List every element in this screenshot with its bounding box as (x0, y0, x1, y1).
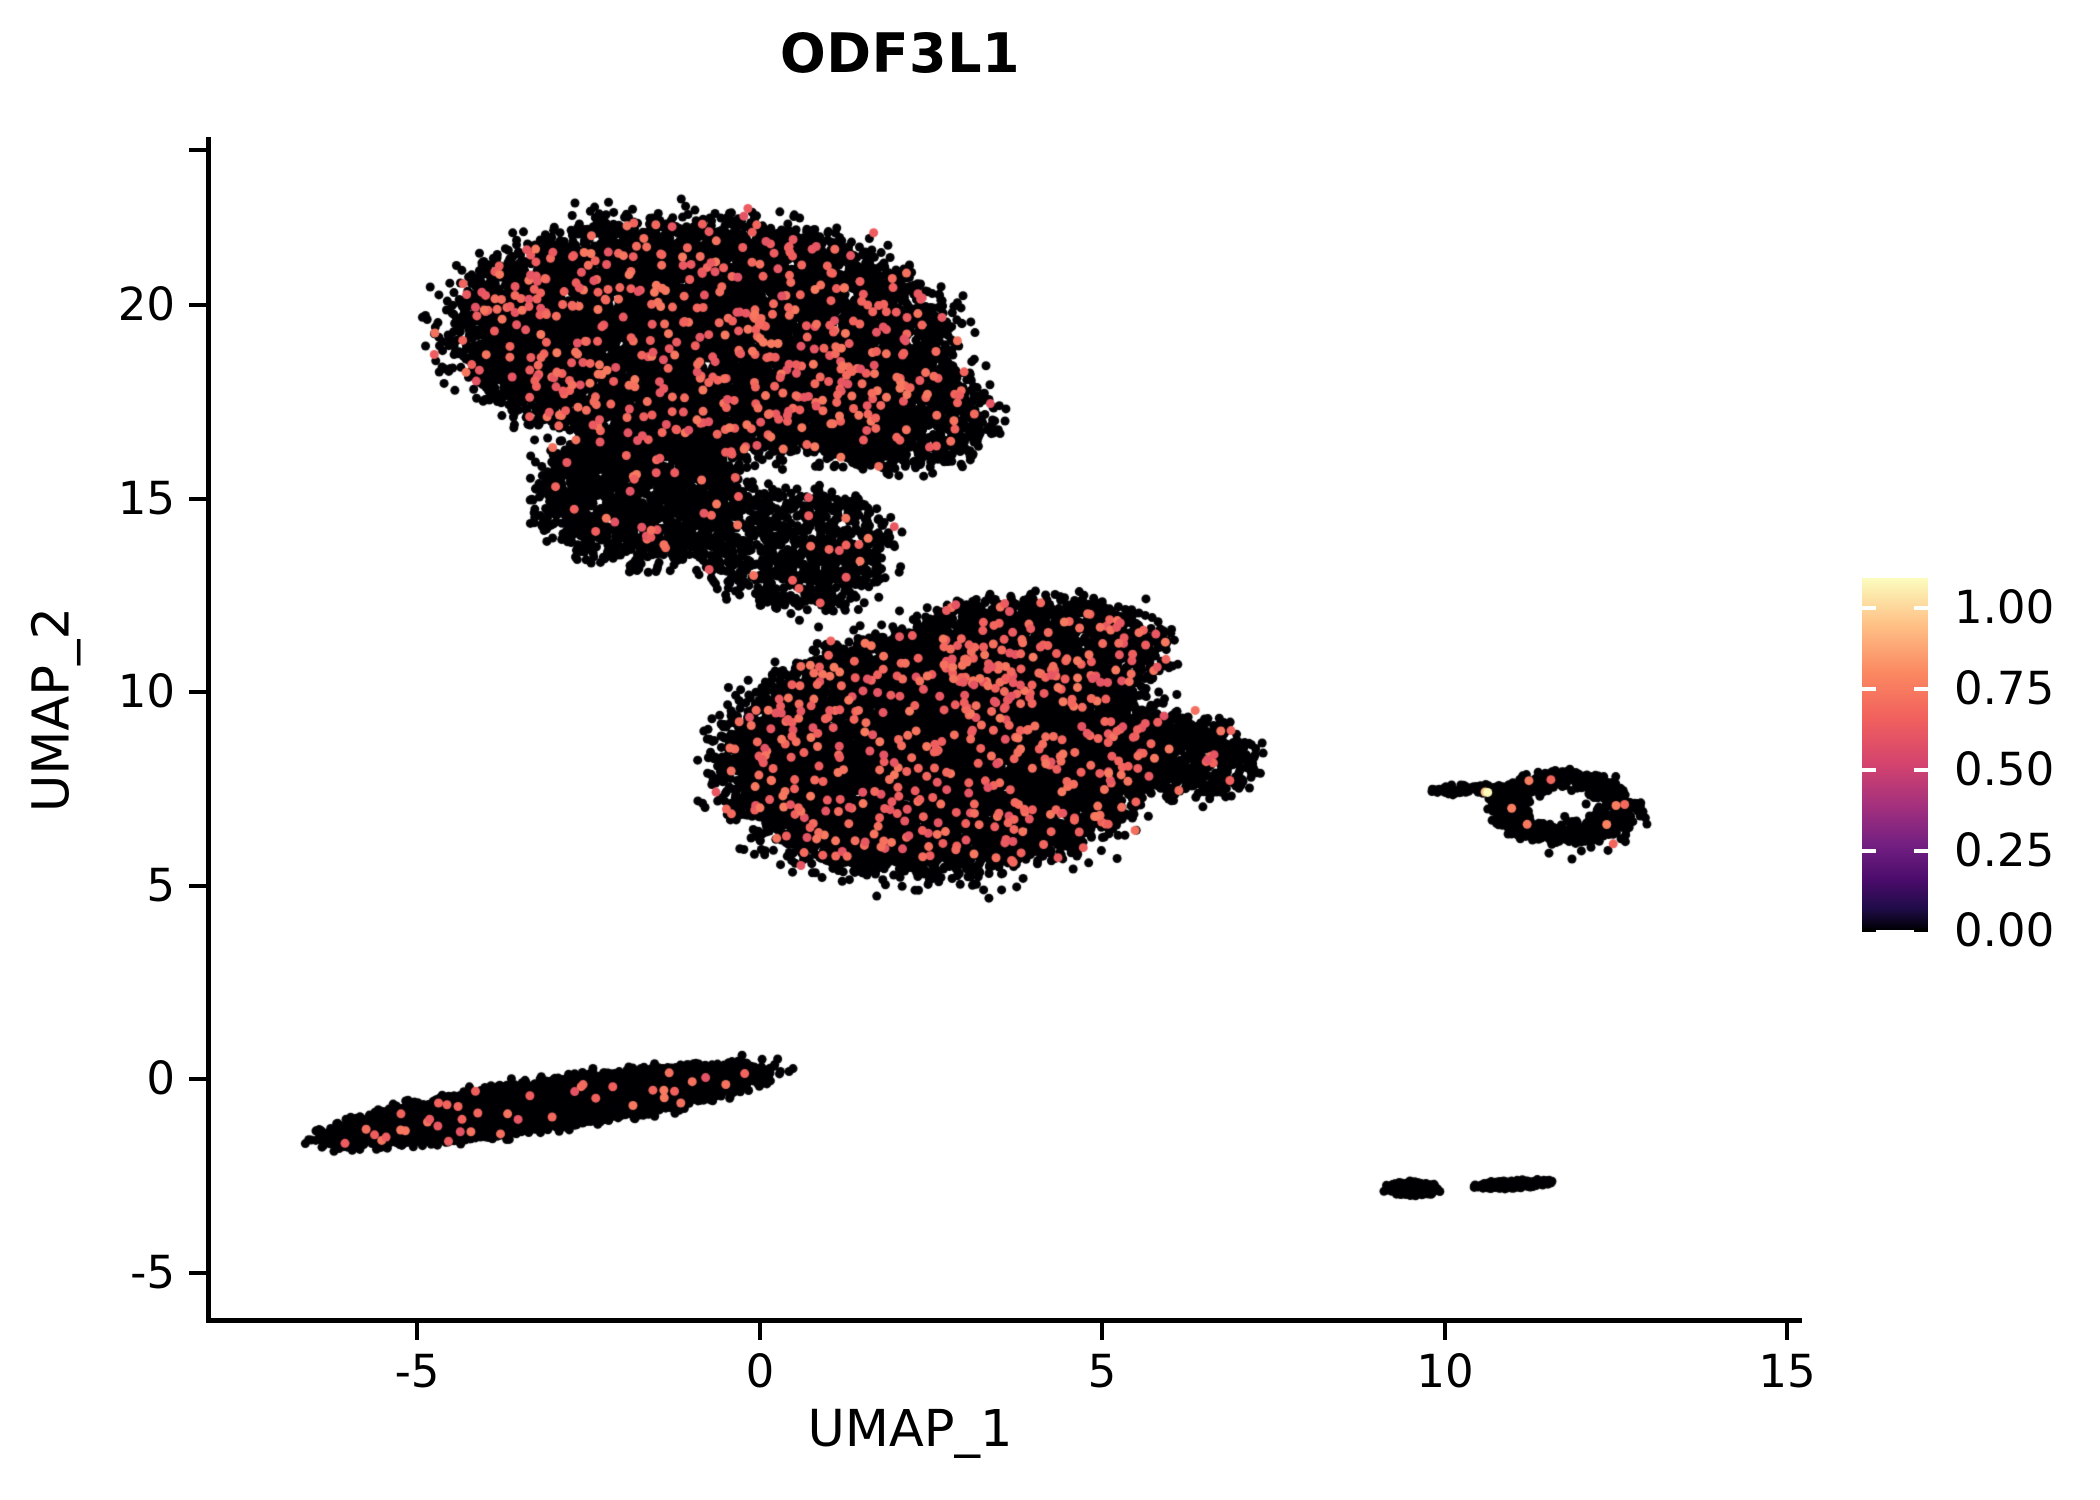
colorbar-tick-label: 0.25 (1954, 824, 2054, 877)
colorbar-tick-label: 0.75 (1954, 662, 2054, 715)
colorbar: 1.00 0.75 0.50 0.25 0.00 (1862, 578, 2082, 938)
y-tick-mark (189, 690, 206, 694)
x-tick-mark (1443, 1323, 1447, 1340)
x-tick-mark (1100, 1323, 1104, 1340)
x-tick-label: -5 (337, 1345, 497, 1398)
x-tick-label: 5 (1022, 1345, 1182, 1398)
x-tick-label: 10 (1365, 1345, 1525, 1398)
colorbar-tick-label: 0.00 (1954, 904, 2054, 957)
colorbar-gradient (1862, 578, 1928, 930)
scatter-plot-area (209, 137, 1802, 1320)
umap-scatter-points (209, 137, 1802, 1320)
colorbar-tick (1914, 687, 1928, 691)
colorbar-tick-label: 1.00 (1954, 581, 2054, 634)
y-tick-mark (189, 1077, 206, 1081)
colorbar-tick (1914, 768, 1928, 772)
y-tick-label: -5 (0, 1246, 175, 1299)
colorbar-tick (1914, 928, 1928, 932)
colorbar-tick (1862, 768, 1876, 772)
y-tick-mark (189, 497, 206, 501)
colorbar-tick (1914, 606, 1928, 610)
colorbar-tick (1862, 928, 1876, 932)
page-title: ODF3L1 (0, 22, 1800, 85)
figure-canvas: ODF3L1 20 15 10 5 0 -5 -5 0 5 10 15 UMAP… (0, 0, 2100, 1500)
y-tick-mark (189, 148, 206, 152)
y-tick-mark (189, 303, 206, 307)
y-tick-mark (189, 1271, 206, 1275)
x-tick-mark (1785, 1323, 1789, 1340)
colorbar-tick (1914, 849, 1928, 853)
x-axis-label: UMAP_1 (560, 1400, 1260, 1459)
colorbar-tick (1862, 687, 1876, 691)
x-tick-label: 0 (680, 1345, 840, 1398)
colorbar-tick-label: 0.50 (1954, 743, 2054, 796)
x-tick-mark (415, 1323, 419, 1340)
x-tick-mark (758, 1323, 762, 1340)
y-tick-mark (189, 884, 206, 888)
x-tick-label: 15 (1707, 1345, 1867, 1398)
y-axis-label: UMAP_2 (23, 310, 82, 1110)
colorbar-tick (1862, 849, 1876, 853)
colorbar-tick (1862, 606, 1876, 610)
